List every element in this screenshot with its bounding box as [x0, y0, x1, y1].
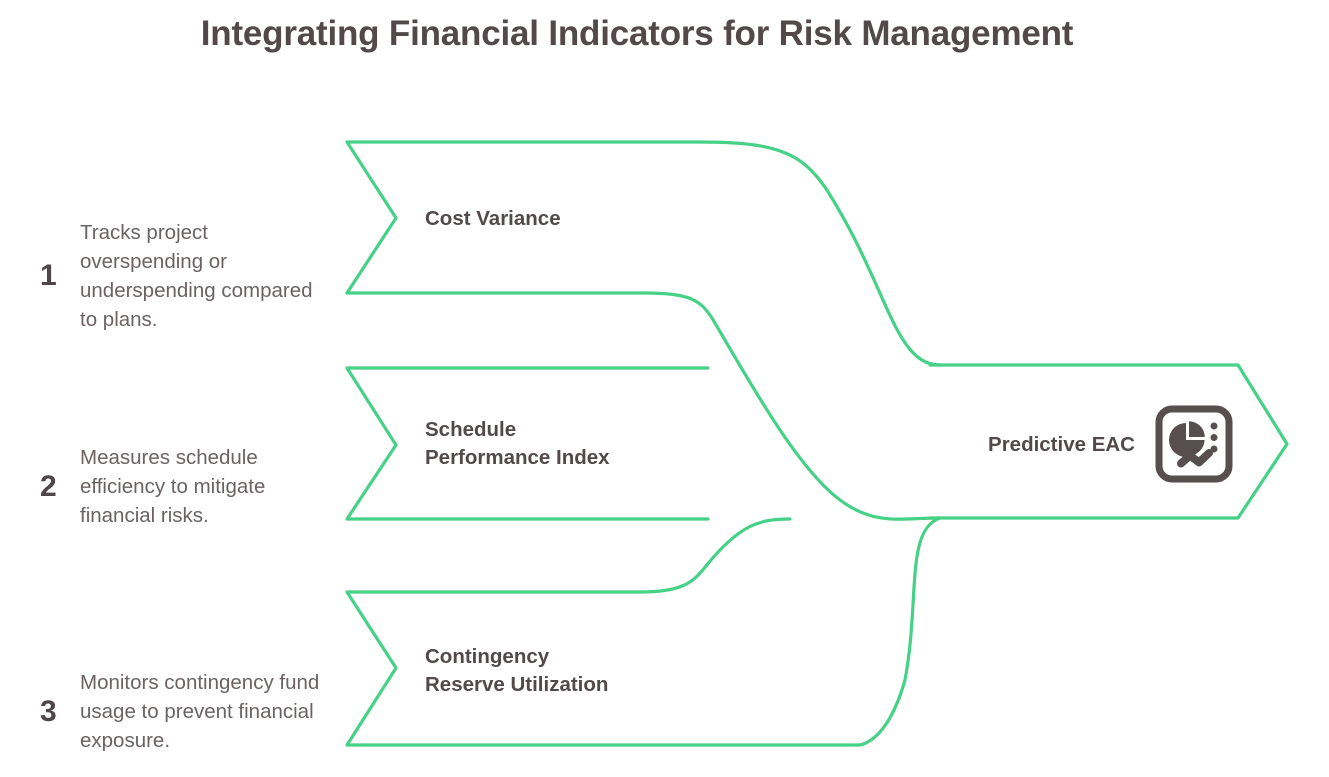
step-number-3: 3 [40, 697, 80, 727]
chevron-1-top-merge-curve [700, 142, 940, 365]
step-number-2: 2 [40, 472, 80, 502]
chevron-label-schedule-performance-index: Schedule Performance Index [425, 416, 610, 472]
step-description-1: Tracks project overspending or underspen… [80, 218, 330, 334]
chevron-3-top-merge-curve [640, 519, 790, 592]
step-description-3: Monitors contingency fund usage to preve… [80, 668, 330, 755]
step-description-2: Measures schedule efficiency to mitigate… [80, 443, 330, 530]
outcome-label-predictive-eac: Predictive EAC [905, 431, 1135, 459]
step-row-2: 2 Measures schedule efficiency to mitiga… [40, 443, 330, 530]
step-row-3: 3 Monitors contingency fund usage to pre… [40, 668, 330, 755]
chevron-label-contingency-reserve-utilization: Contingency Reserve Utilization [425, 643, 608, 699]
chevron-label-cost-variance: Cost Variance [425, 205, 561, 233]
analytics-dashboard-icon [1155, 405, 1233, 483]
step-number-1: 1 [40, 261, 80, 291]
diagram-canvas: Integrating Financial Indicators for Ris… [0, 0, 1329, 777]
flow-diagram-graphic [0, 0, 1329, 777]
step-row-1: 1 Tracks project overspending or undersp… [40, 218, 330, 334]
chevron-3-bottom-merge-curve [860, 518, 940, 745]
